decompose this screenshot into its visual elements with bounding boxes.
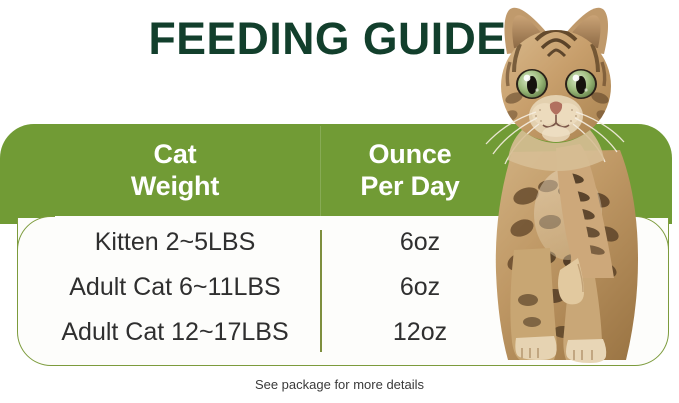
column-header-ounce-per-day: Ounce Per Day <box>300 138 520 202</box>
table-row-amount-1: 6oz <box>330 272 510 302</box>
table-row-weight-1: Adult Cat 6~11LBS <box>40 272 310 302</box>
body-column-divider <box>320 230 322 352</box>
table-row-amount-0: 6oz <box>330 227 510 257</box>
table-row-amount-2: 12oz <box>330 317 510 347</box>
footer-note: See package for more details <box>0 376 679 394</box>
feeding-guide-card: FEEDING GUIDE Cat Weight Ounce Per Day K… <box>0 0 679 403</box>
table-row-weight-2: Adult Cat 12~17LBS <box>40 317 310 347</box>
page-title: FEEDING GUIDE <box>3 14 651 64</box>
body-top-edge <box>55 216 631 219</box>
table-row-weight-0: Kitten 2~5LBS <box>40 227 310 257</box>
column-header-cat-weight: Cat Weight <box>65 138 285 202</box>
